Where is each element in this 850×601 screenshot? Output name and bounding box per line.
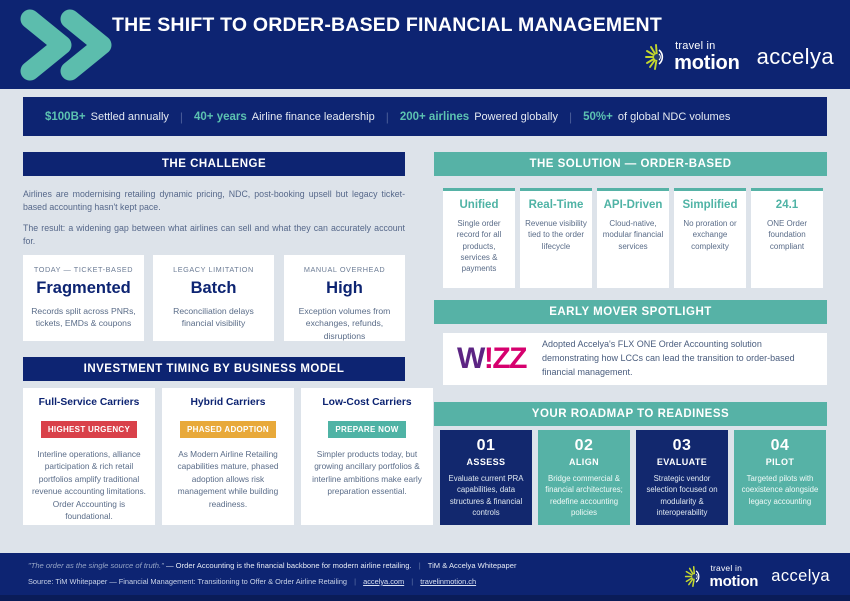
solution-card: 24.1 ONE Order foundation compliant (751, 188, 823, 288)
footer-tagline: — Order Accounting is the financial back… (166, 561, 412, 570)
investment-card-title: Low-Cost Carriers (308, 397, 426, 408)
divider: | (569, 110, 572, 124)
double-chevron-right-icon (8, 3, 120, 87)
divider: | (411, 577, 413, 586)
solution-card-body: Single order record for all products, se… (448, 218, 510, 275)
divider: | (354, 577, 356, 586)
wizz-logo-w: W (457, 342, 484, 375)
stat-label: of global NDC volumes (618, 111, 731, 123)
challenge-paragraph-1: Airlines are modernising retailing dynam… (23, 188, 405, 215)
card-kicker: LEGACY LIMITATION (161, 265, 266, 274)
solution-card-title: API-Driven (602, 199, 664, 211)
tim-logo-line1: travel in (710, 564, 758, 573)
status-badge: PHASED ADOPTION (180, 421, 276, 438)
accelya-logo: accelya (757, 44, 834, 70)
wizz-air-logo: W!ZZ (457, 344, 526, 374)
card-body: Reconciliation delays financial visibili… (161, 305, 266, 330)
roadmap-step-label: PILOT (740, 457, 820, 467)
footer-link-accelya[interactable]: accelya.com (363, 577, 404, 586)
section-header-spotlight: EARLY MOVER SPOTLIGHT (434, 300, 827, 324)
divider: | (180, 110, 183, 124)
roadmap-step-body: Bridge commercial & financial architectu… (544, 473, 624, 518)
investment-card-body: Interline operations, alliance participa… (30, 448, 148, 523)
roadmap-step-label: ALIGN (544, 457, 624, 467)
tim-logo-line2: motion (674, 53, 739, 73)
spotlight-text: Adopted Accelya's FLX ONE Order Accounti… (542, 338, 813, 379)
footer-bottom-rule (0, 595, 850, 601)
card-title: Fragmented (31, 279, 136, 298)
investment-card: Hybrid Carriers PHASED ADOPTION As Moder… (162, 388, 294, 525)
stat-item: 40+ years Airline finance leadership (194, 111, 375, 123)
investment-card-title: Full-Service Carriers (30, 397, 148, 408)
roadmap-step: 04 PILOT Targeted pilots with coexistenc… (734, 430, 826, 525)
roadmap-step: 01 ASSESS Evaluate current PRA capabilit… (440, 430, 532, 525)
footer-line-1: "The order as the single source of truth… (28, 561, 517, 570)
footer-line-2: Source: TiM Whitepaper — Financial Manag… (28, 577, 476, 586)
roadmap-step-number: 01 (446, 437, 526, 455)
header-logos: travel in motion accelya (644, 41, 834, 73)
travel-in-motion-logo: travel in motion (684, 564, 758, 589)
travel-in-motion-logo: travel in motion (644, 41, 739, 73)
footer: "The order as the single source of truth… (0, 553, 850, 601)
section-header-roadmap: YOUR ROADMAP TO READINESS (434, 402, 827, 426)
stat-value: $100B+ (45, 111, 86, 123)
stat-item: 200+ airlines Powered globally (400, 111, 558, 123)
challenge-card: MANUAL OVERHEAD High Exception volumes f… (284, 255, 405, 341)
solution-card: API-Driven Cloud-native, modular financi… (597, 188, 669, 288)
challenge-card: LEGACY LIMITATION Batch Reconciliation d… (153, 255, 274, 341)
stat-item: $100B+ Settled annually (45, 111, 169, 123)
solution-card-body: Revenue visibility tied to the order lif… (525, 218, 587, 252)
investment-card-body: Simpler products today, but growing anci… (308, 448, 426, 498)
roadmap-step-number: 04 (740, 437, 820, 455)
investment-card-title: Hybrid Carriers (169, 397, 287, 408)
roadmap-step-body: Targeted pilots with coexistence alongsi… (740, 473, 820, 507)
footer-source: Source: TiM Whitepaper — Financial Manag… (28, 577, 347, 586)
roadmap-step: 02 ALIGN Bridge commercial & financial a… (538, 430, 630, 525)
solution-card-title: 24.1 (756, 199, 818, 211)
infographic-page: THE SHIFT TO ORDER-BASED FINANCIAL MANAG… (0, 0, 850, 601)
tim-logo-line1: travel in (675, 41, 739, 52)
header-banner: THE SHIFT TO ORDER-BASED FINANCIAL MANAG… (0, 0, 850, 89)
section-header-investment: INVESTMENT TIMING BY BUSINESS MODEL (23, 357, 405, 381)
section-header-challenge: THE CHALLENGE (23, 152, 405, 176)
stat-value: 50%+ (583, 111, 613, 123)
stat-label: Settled annually (91, 111, 169, 123)
solution-card-body: ONE Order foundation compliant (756, 218, 818, 252)
investment-card: Low-Cost Carriers PREPARE NOW Simpler pr… (301, 388, 433, 525)
sunburst-icon (684, 566, 705, 587)
card-kicker: MANUAL OVERHEAD (292, 265, 397, 274)
roadmap-step-number: 02 (544, 437, 624, 455)
card-title: High (292, 279, 397, 298)
card-title: Batch (161, 279, 266, 298)
spotlight-card: W!ZZ Adopted Accelya's FLX ONE Order Acc… (443, 333, 827, 385)
divider: | (386, 110, 389, 124)
stat-value: 40+ years (194, 111, 247, 123)
investment-card-body: As Modern Airline Retailing capabilities… (169, 448, 287, 510)
challenge-card: TODAY — TICKET-BASED Fragmented Records … (23, 255, 144, 341)
challenge-paragraph-2: The result: a widening gap between what … (23, 222, 405, 249)
solution-card: Unified Single order record for all prod… (443, 188, 515, 288)
roadmap-step-body: Evaluate current PRA capabilities, data … (446, 473, 526, 518)
tim-logo-line2: motion (709, 574, 758, 589)
sunburst-icon (644, 44, 670, 70)
page-title: THE SHIFT TO ORDER-BASED FINANCIAL MANAG… (112, 14, 662, 37)
solution-card-title: Unified (448, 199, 510, 211)
status-badge: HIGHEST URGENCY (41, 421, 137, 438)
investment-card: Full-Service Carriers HIGHEST URGENCY In… (23, 388, 155, 525)
roadmap-step: 03 EVALUATE Strategic vendor selection f… (636, 430, 728, 525)
card-body: Exception volumes from exchanges, refund… (292, 305, 397, 342)
roadmap-step-label: EVALUATE (642, 457, 722, 467)
stats-bar: $100B+ Settled annually | 40+ years Airl… (23, 97, 827, 136)
solution-card: Simplified No proration or exchange comp… (674, 188, 746, 288)
wizz-logo-zz: ZZ (492, 342, 526, 375)
section-header-solution: THE SOLUTION — ORDER-BASED (434, 152, 827, 176)
solution-card-title: Real-Time (525, 199, 587, 211)
solution-card: Real-Time Revenue visibility tied to the… (520, 188, 592, 288)
footer-quote: "The order as the single source of truth… (28, 561, 164, 570)
roadmap-step-number: 03 (642, 437, 722, 455)
solution-card-body: No proration or exchange complexity (679, 218, 741, 252)
accelya-logo: accelya (771, 567, 830, 586)
divider: | (419, 561, 421, 570)
stat-label: Powered globally (474, 111, 558, 123)
roadmap-step-body: Strategic vendor selection focused on mo… (642, 473, 722, 518)
footer-logos: travel in motion accelya (684, 564, 830, 589)
solution-card-title: Simplified (679, 199, 741, 211)
footer-attribution: TiM & Accelya Whitepaper (428, 561, 517, 570)
stat-value: 200+ airlines (400, 111, 469, 123)
card-body: Records split across PNRs, tickets, EMDs… (31, 305, 136, 330)
footer-link-travelinmotion[interactable]: travelinmotion.ch (420, 577, 476, 586)
status-badge: PREPARE NOW (328, 421, 405, 438)
stat-item: 50%+ of global NDC volumes (583, 111, 730, 123)
roadmap-step-label: ASSESS (446, 457, 526, 467)
card-kicker: TODAY — TICKET-BASED (31, 265, 136, 274)
stat-label: Airline finance leadership (252, 111, 375, 123)
solution-card-body: Cloud-native, modular financial services (602, 218, 664, 252)
